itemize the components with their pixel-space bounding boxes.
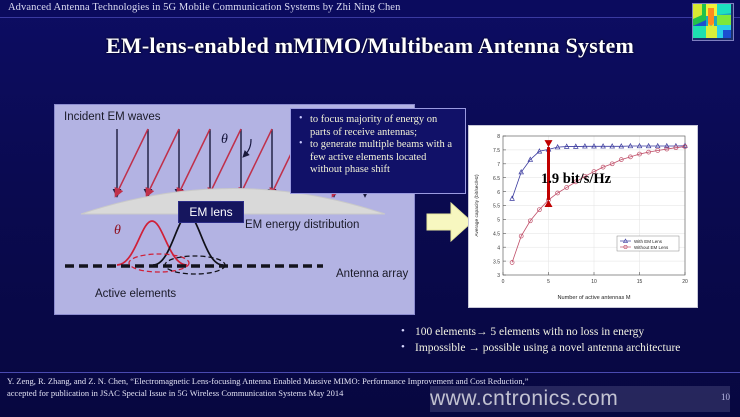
watermark: www.cntronics.com [430,386,730,412]
svg-text:With EM Lens: With EM Lens [634,239,663,244]
bottom-bullet-list: 100 elements→ 5 elements with no loss in… [398,324,738,356]
capacity-chart: 33.544.555.566.577.5805101520Number of a… [468,125,698,308]
list-item: to generate multiple beams with a few ac… [297,139,459,177]
svg-text:3: 3 [497,273,500,279]
em-energy-distribution-label: EM energy distribution [245,219,359,231]
header-title: Advanced Antenna Technologies in 5G Mobi… [8,2,668,13]
svg-text:7.5: 7.5 [493,148,500,154]
svg-text:6: 6 [497,190,500,196]
theta-bottom-label: θ [114,223,121,239]
page-title: EM-lens-enabled mMIMO/Multibeam Antenna … [0,33,740,59]
antenna-array-label: Antenna array [336,268,408,280]
svg-text:Without EM Lens: Without EM Lens [634,245,669,250]
list-item: 100 elements→ 5 elements with no loss in… [398,324,738,340]
svg-text:4.5: 4.5 [493,232,500,238]
chart-annotation: 1.9 bit/s/Hz [541,171,611,188]
em-lens-label: EM lens [178,201,244,223]
svg-text:3.5: 3.5 [493,259,500,265]
svg-text:5.5: 5.5 [493,204,500,210]
footer-divider [0,372,740,373]
page-number: 10 [721,392,730,402]
svg-text:Number of active antennas M: Number of active antennas M [557,295,630,301]
svg-text:10: 10 [591,279,597,285]
svg-text:8: 8 [497,134,500,140]
header-divider [0,17,740,18]
theta-top-label: θ [221,132,228,148]
svg-text:5: 5 [497,218,500,224]
svg-text:5: 5 [547,279,550,285]
callout-box: to focus majority of energy on parts of … [290,108,466,194]
svg-text:Average capacity (bit/sec/Hz): Average capacity (bit/sec/Hz) [474,174,480,237]
svg-text:6.5: 6.5 [493,176,500,182]
incident-waves-label: Incident EM waves [64,111,161,123]
list-item: Impossible → possible using a novel ante… [398,340,738,356]
active-elements-label: Active elements [95,288,176,300]
slide-root: Advanced Antenna Technologies in 5G Mobi… [0,0,740,417]
svg-text:7: 7 [497,162,500,168]
svg-text:4: 4 [497,245,500,251]
svg-text:0: 0 [502,279,505,285]
svg-text:20: 20 [682,279,688,285]
list-item: to focus majority of energy on parts of … [297,114,459,139]
svg-text:15: 15 [637,279,643,285]
callout-bullet-list: to focus majority of energy on parts of … [291,109,465,177]
